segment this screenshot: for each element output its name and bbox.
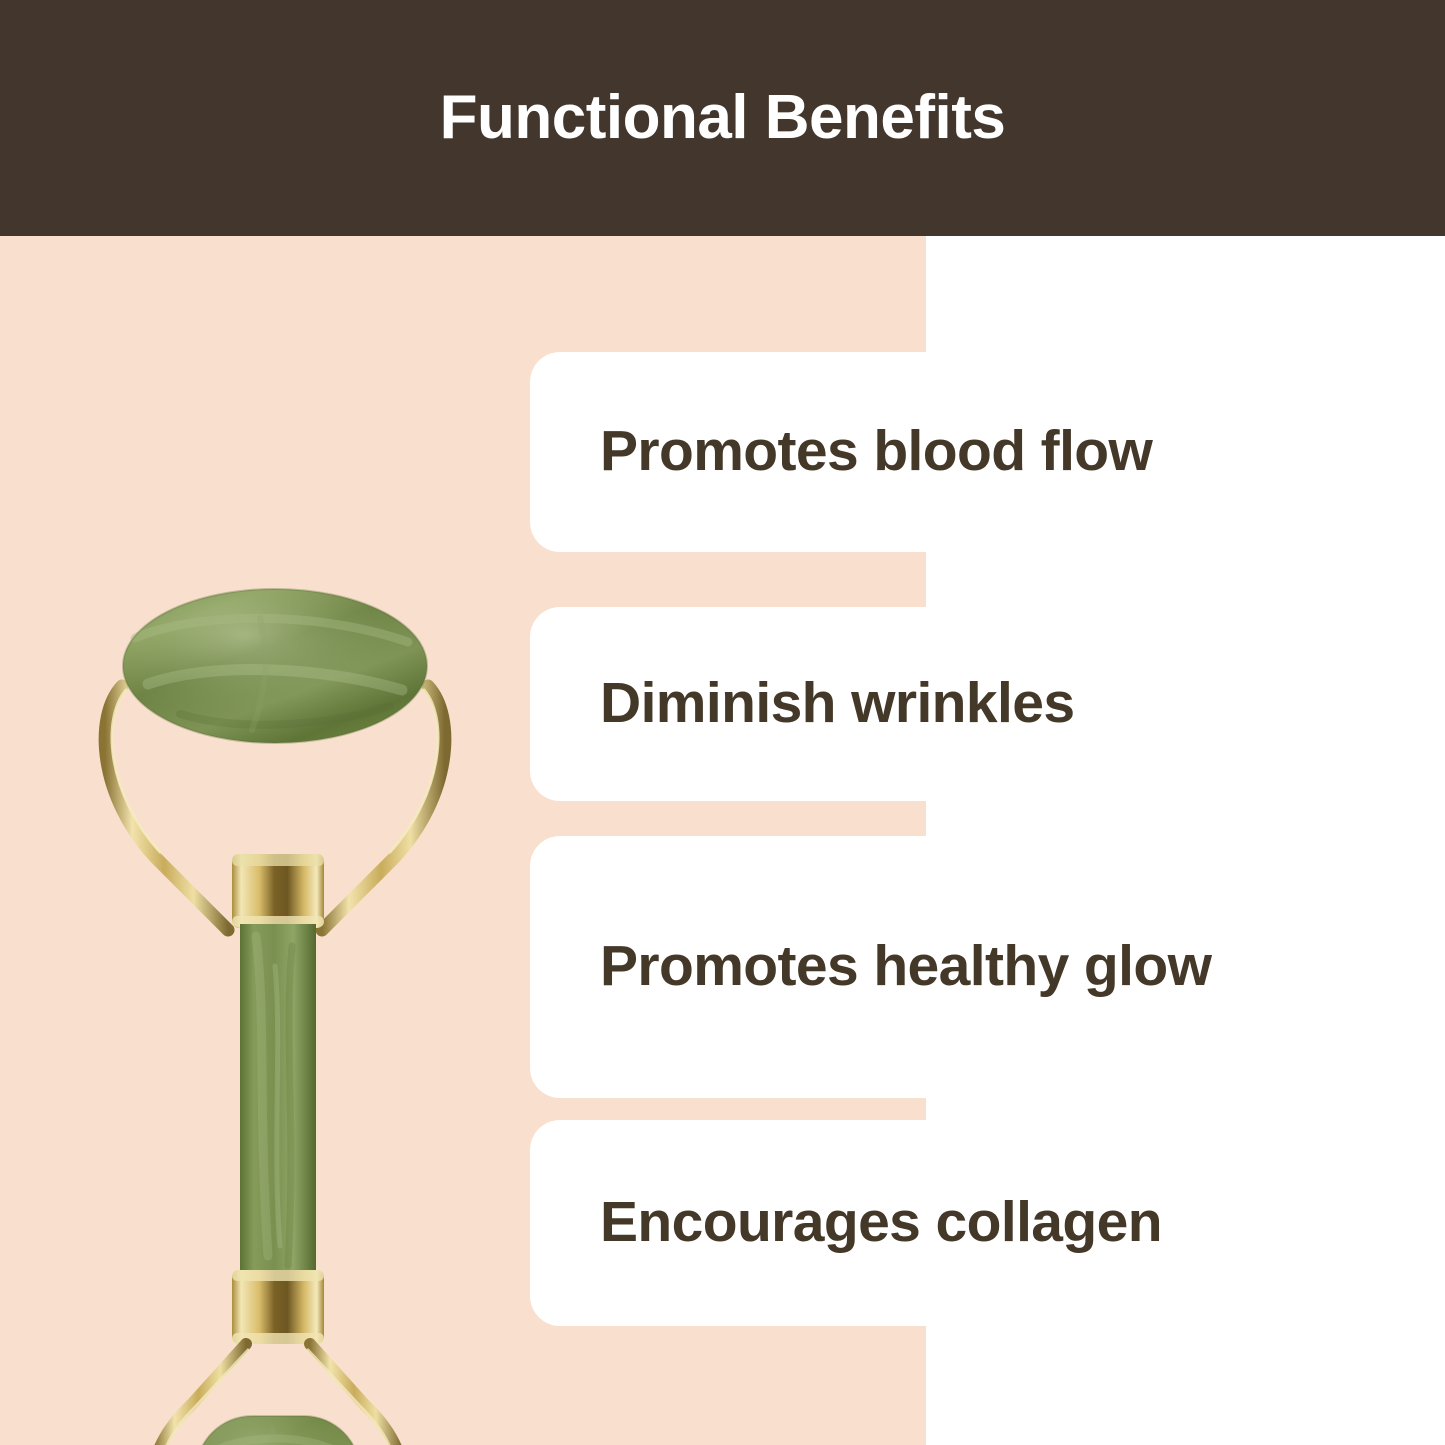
benefit-label: Diminish wrinkles (600, 674, 1074, 734)
benefit-label: Promotes healthy glow (600, 937, 1211, 997)
header-band: Functional Benefits (0, 0, 1445, 236)
page-title: Functional Benefits (440, 87, 1006, 149)
jade-handle-icon (240, 924, 316, 1274)
jade-roller-head-large-icon (123, 589, 427, 743)
jade-roller-image (60, 566, 490, 1445)
gold-ferrule-top-icon (232, 854, 324, 928)
gold-ferrule-bottom-icon (232, 1270, 324, 1344)
infographic-root: Functional Benefits (0, 0, 1445, 1445)
benefit-card-4[interactable]: Encourages collagen (530, 1120, 1445, 1326)
benefit-label: Encourages collagen (600, 1193, 1162, 1253)
benefit-label: Promotes blood flow (600, 422, 1152, 482)
benefit-card-2[interactable]: Diminish wrinkles (530, 607, 1445, 801)
benefit-card-1[interactable]: Promotes blood flow (530, 352, 1445, 552)
benefit-card-3[interactable]: Promotes healthy glow (530, 836, 1445, 1098)
jade-roller-head-small-icon (196, 1416, 360, 1445)
